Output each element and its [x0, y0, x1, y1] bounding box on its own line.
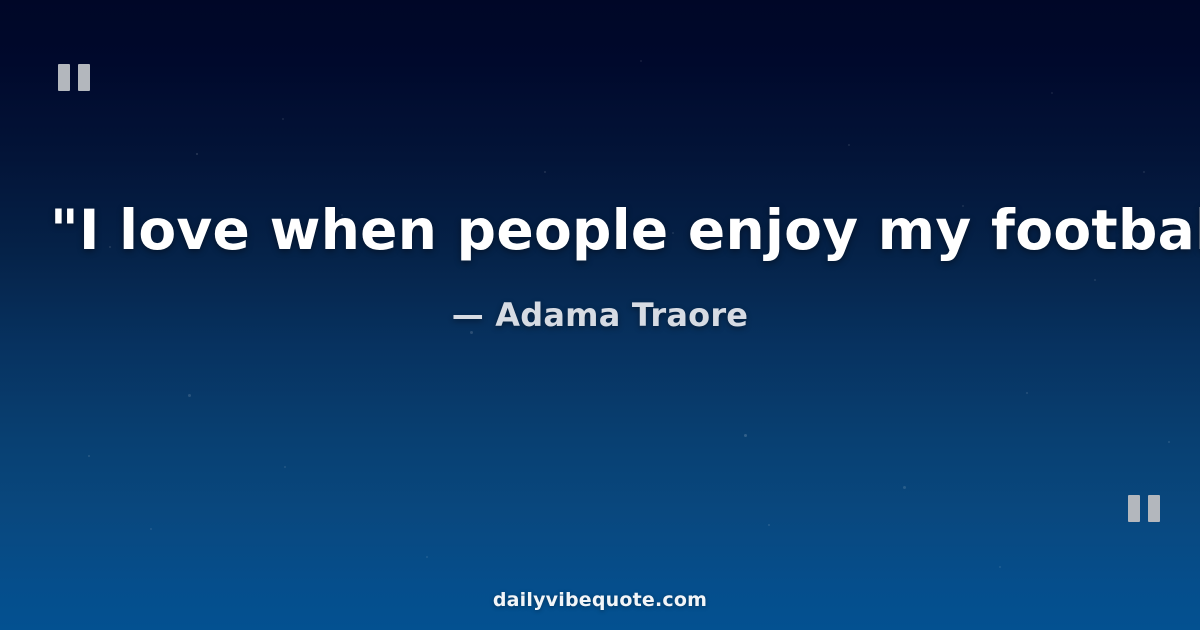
- footer-site-name: dailyvibequote.com: [493, 589, 707, 611]
- quote-mark-close-bar-left: [1128, 495, 1140, 522]
- quote-card: "I love when people enjoy my football." …: [0, 0, 1200, 630]
- quote-mark-open-icon: [58, 64, 90, 91]
- quote-text: "I love when people enjoy my football.": [50, 196, 1150, 264]
- quote-attribution: — Adama Traore: [50, 294, 1150, 336]
- star-dot: [1051, 92, 1053, 94]
- quote-content: "I love when people enjoy my football." …: [0, 196, 1200, 336]
- quote-mark-open-bar-right: [78, 64, 90, 91]
- star-dot: [848, 144, 850, 146]
- quote-mark-open-bar-left: [58, 64, 70, 91]
- star-dot: [150, 528, 152, 530]
- star-dot: [426, 556, 428, 558]
- star-dot: [188, 394, 191, 397]
- star-dot: [284, 466, 286, 468]
- footer: dailyvibequote.com: [0, 589, 1200, 611]
- star-dot: [903, 486, 906, 489]
- star-dot: [640, 60, 642, 62]
- star-dot: [1026, 392, 1028, 394]
- star-dot: [768, 524, 770, 526]
- star-dot: [88, 455, 90, 457]
- star-dot: [282, 118, 284, 120]
- quote-mark-close-bar-right: [1148, 495, 1160, 522]
- star-dot: [196, 153, 198, 155]
- star-dot: [999, 566, 1001, 568]
- quote-mark-close-icon: [1128, 495, 1160, 522]
- star-dot: [544, 171, 546, 173]
- star-dot: [1143, 171, 1145, 173]
- star-dot: [744, 434, 747, 437]
- star-dot: [1168, 441, 1170, 443]
